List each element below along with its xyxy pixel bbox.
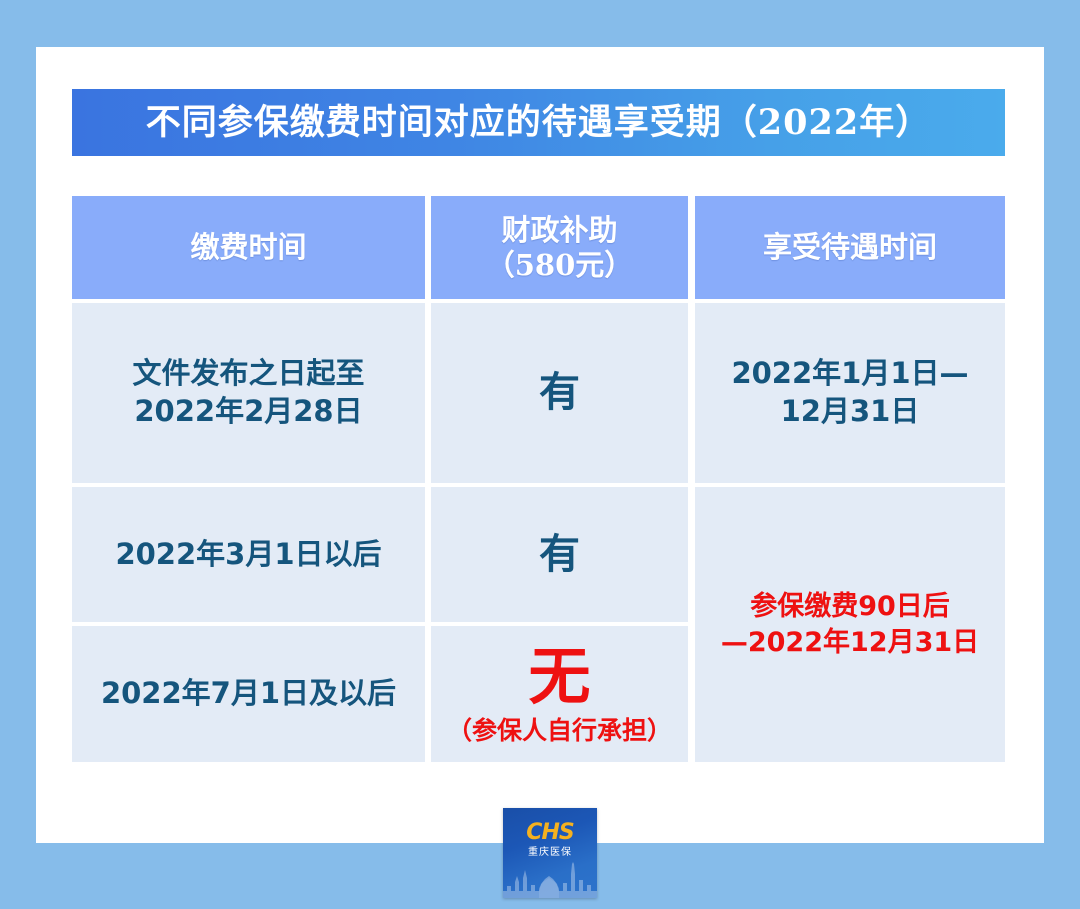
poster-title-bar: 不同参保缴费时间对应的待遇享受期（2022年）	[72, 89, 1005, 156]
table-header-benefit-period-label: 享受待遇时间	[763, 230, 937, 264]
row1-benefit-period: 2022年1月1日— 12月31日	[731, 355, 968, 430]
row2-payment-time: 2022年3月1日以后	[115, 536, 381, 574]
table-row: 文件发布之日起至 2022年2月28日	[72, 303, 425, 483]
merged-benefit-period-cell: 参保缴费90日后 —2022年12月31日	[695, 487, 1005, 762]
table-row: 无 （参保人自行承担）	[431, 626, 688, 762]
table-header-payment-time-label: 缴费时间	[190, 230, 306, 264]
table-header-payment-time: 缴费时间	[72, 196, 425, 299]
row2-subsidy: 有	[539, 528, 580, 581]
row3-subsidy-main: 无	[528, 646, 590, 708]
table-header-benefit-period: 享受待遇时间	[695, 196, 1005, 299]
merged-benefit-period-text: 参保缴费90日后 —2022年12月31日	[721, 589, 979, 659]
benefit-period-table: 缴费时间 财政补助 （580元） 享受待遇时间 文件发布之日起至 2022年2月…	[72, 196, 1005, 762]
table-row: 有	[431, 303, 688, 483]
skyline-icon	[503, 858, 597, 898]
chongqing-medical-insurance-logo: CHS 重庆医保	[503, 808, 597, 898]
row1-subsidy: 有	[539, 366, 580, 419]
row3-subsidy-group: 无 （参保人自行承担）	[447, 646, 672, 743]
table-row: 2022年1月1日— 12月31日	[695, 303, 1005, 483]
row1-payment-time: 文件发布之日起至 2022年2月28日	[132, 355, 364, 430]
page-title: 不同参保缴费时间对应的待遇享受期（2022年）	[146, 105, 931, 140]
table-header-financial-subsidy-label: 财政补助 （580元）	[486, 213, 634, 281]
logo-mark-text: CHS	[503, 822, 597, 844]
table-row: 有	[431, 487, 688, 622]
row3-payment-time: 2022年7月1日及以后	[101, 675, 396, 713]
logo-subtitle-text: 重庆医保	[503, 848, 597, 858]
table-row: 2022年3月1日以后	[72, 487, 425, 622]
row3-subsidy-note: （参保人自行承担）	[447, 718, 672, 743]
table-row: 2022年7月1日及以后	[72, 626, 425, 762]
table-header-financial-subsidy: 财政补助 （580元）	[431, 196, 688, 299]
poster-root: 不同参保缴费时间对应的待遇享受期（2022年） 缴费时间 财政补助 （580元）…	[0, 0, 1080, 909]
